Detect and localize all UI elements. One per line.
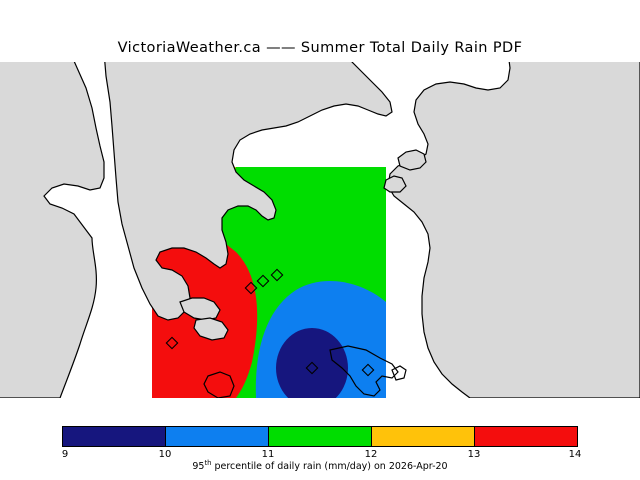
colorbar-tick-1: 10 (159, 449, 172, 460)
colorbar-segment-3[interactable] (372, 427, 475, 446)
colorbar-segment-4[interactable] (475, 427, 577, 446)
caption-percentile-number: 95 (192, 461, 204, 472)
colorbar-tick-2: 11 (262, 449, 275, 460)
colorbar-tick-4: 13 (468, 449, 481, 460)
colorbar-tick-3: 12 (365, 449, 378, 460)
page-title: VictoriaWeather.ca —— Summer Total Daily… (0, 40, 640, 56)
colorbar-segment-0[interactable] (63, 427, 166, 446)
colorbar-tick-5: 14 (569, 449, 582, 460)
screenshot-root: VictoriaWeather.ca —— Summer Total Daily… (0, 0, 640, 480)
map-panel[interactable] (0, 62, 640, 398)
colorbar-track[interactable] (62, 426, 578, 447)
colorbar-caption: 95th percentile of daily rain (mm/day) o… (0, 461, 640, 472)
colorbar[interactable] (62, 426, 578, 447)
colorbar-segment-2[interactable] (269, 427, 372, 446)
caption-rest: percentile of daily rain (mm/day) on 202… (211, 461, 447, 472)
colorbar-tick-0: 9 (62, 449, 68, 460)
colorbar-segment-1[interactable] (166, 427, 269, 446)
map-canvas[interactable] (0, 62, 640, 398)
